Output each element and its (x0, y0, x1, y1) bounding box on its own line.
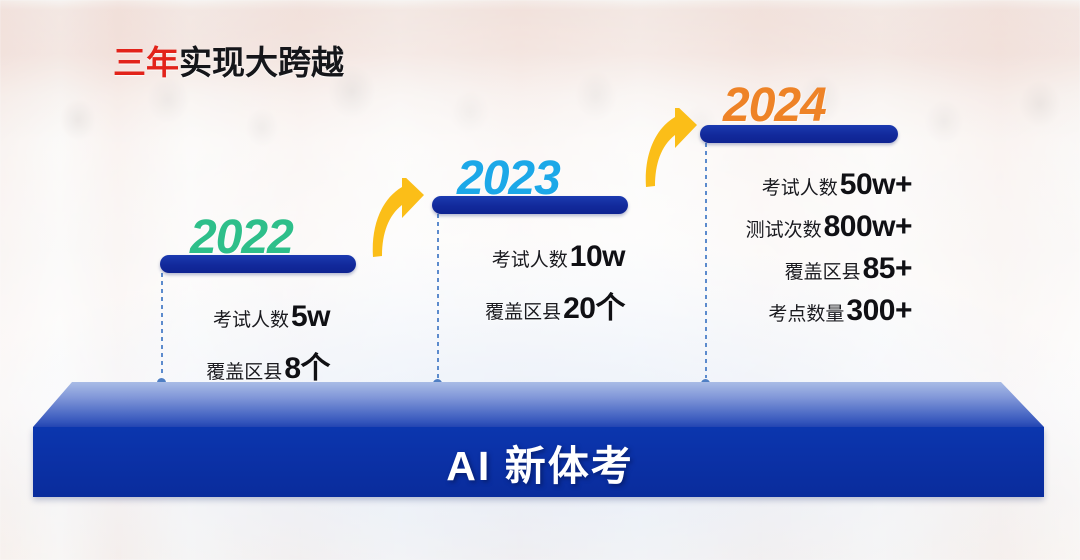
metric-value: 50w+ (840, 168, 912, 202)
metric-row: 覆盖区县 85+ (712, 252, 912, 286)
platform-top-face (0, 382, 1080, 428)
metric-row: 覆盖区县 20个 (450, 283, 625, 327)
metric-value: 800w+ (824, 210, 912, 244)
metric-name: 考试人数 (213, 305, 289, 332)
connector-line-2023 (437, 214, 439, 378)
metric-row: 考点数量 300+ (712, 294, 912, 328)
page-title: 三年实现大跨越 (113, 46, 344, 79)
metric-name: 考试人数 (762, 173, 838, 200)
metric-row: 测试次数 800w+ (712, 210, 912, 244)
metric-name: 考点数量 (768, 299, 844, 326)
metric-name: 覆盖区县 (485, 297, 561, 324)
growth-arrow-2023-to-2024 (645, 108, 707, 193)
metric-value: 5w (291, 300, 330, 334)
metric-name: 覆盖区县 (785, 257, 861, 284)
metric-name: 覆盖区县 (206, 357, 282, 384)
year-label-2023: 2023 (457, 155, 560, 203)
platform-base: AI 新体考 (0, 382, 1080, 507)
page-title-rest: 实现大跨越 (179, 44, 344, 81)
metric-row: 考试人数 5w (175, 300, 330, 334)
page-title-accent: 三年 (113, 44, 179, 81)
connector-line-2022 (161, 273, 163, 377)
infographic-canvas: 三年实现大跨越 2022 考试人数 5w 覆盖区县 8个 2023 (0, 0, 1080, 560)
metric-value: 300+ (846, 294, 912, 328)
platform-label: AI 新体考 (0, 427, 1080, 497)
metrics-2022: 考试人数 5w 覆盖区县 8个 (175, 300, 330, 387)
metrics-2023: 考试人数 10w 覆盖区县 20个 (450, 240, 625, 327)
metric-name: 测试次数 (746, 215, 822, 242)
year-label-2024: 2024 (723, 82, 826, 130)
metric-row: 覆盖区县 8个 (175, 343, 330, 387)
metric-value: 8个 (284, 343, 330, 387)
metric-value: 85+ (863, 252, 912, 286)
growth-arrow-2022-to-2023 (372, 178, 434, 258)
metric-row: 考试人数 50w+ (712, 168, 912, 202)
metrics-2024: 考试人数 50w+ 测试次数 800w+ 覆盖区县 85+ 考点数量 300+ (712, 168, 912, 328)
metric-name: 考试人数 (492, 245, 568, 272)
metric-row: 考试人数 10w (450, 240, 625, 274)
metric-value: 20个 (563, 283, 625, 327)
metric-value: 10w (570, 240, 625, 274)
year-label-2022: 2022 (190, 214, 293, 262)
